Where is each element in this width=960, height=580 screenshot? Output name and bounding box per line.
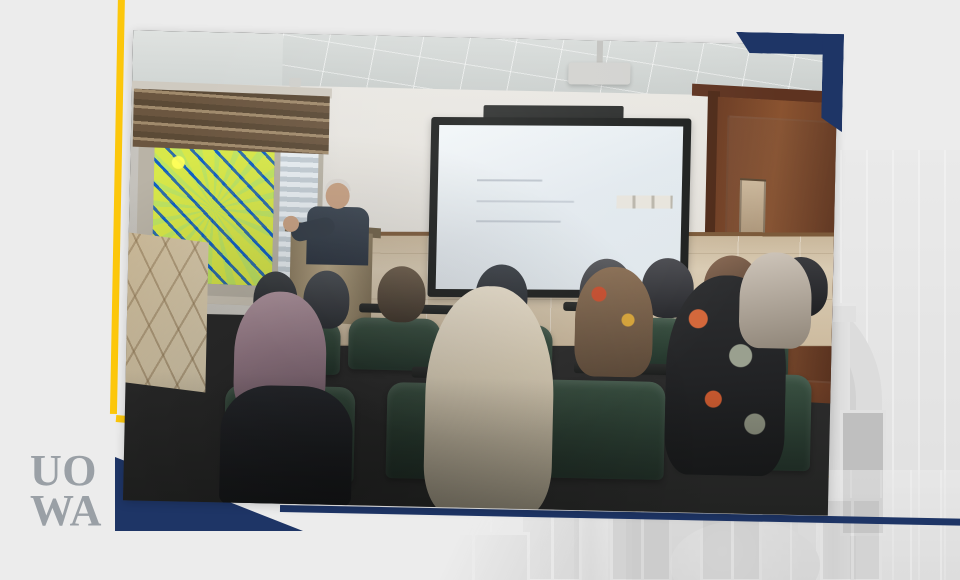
audience-member-patterned-hijab	[574, 266, 654, 378]
navy-corner-bracket	[734, 32, 844, 132]
audience-member-hijab	[738, 252, 812, 350]
facade-window-4	[820, 498, 882, 580]
projector	[568, 62, 630, 84]
logo-line-2: WA	[30, 492, 130, 530]
logo-line-1: UO	[30, 452, 130, 490]
audience-member-body	[219, 384, 354, 507]
ceiling-sensor-icon	[289, 78, 301, 87]
flipchart-easel	[123, 232, 209, 393]
corner-bracket-vertical	[821, 34, 844, 132]
lecture-photo	[123, 30, 838, 515]
window-blinds	[133, 89, 330, 155]
uowa-logo[interactable]: UO WA	[30, 452, 130, 532]
projector-mount	[597, 40, 604, 64]
facade-door-2	[472, 532, 530, 580]
photo-scene	[123, 30, 838, 515]
yellow-frame-left	[110, 0, 125, 414]
banner-canvas: UO WA	[0, 0, 960, 580]
audience-member	[377, 266, 426, 323]
chair	[348, 317, 441, 371]
audience-member-hijab	[423, 285, 556, 516]
wall-outlets	[616, 195, 672, 208]
